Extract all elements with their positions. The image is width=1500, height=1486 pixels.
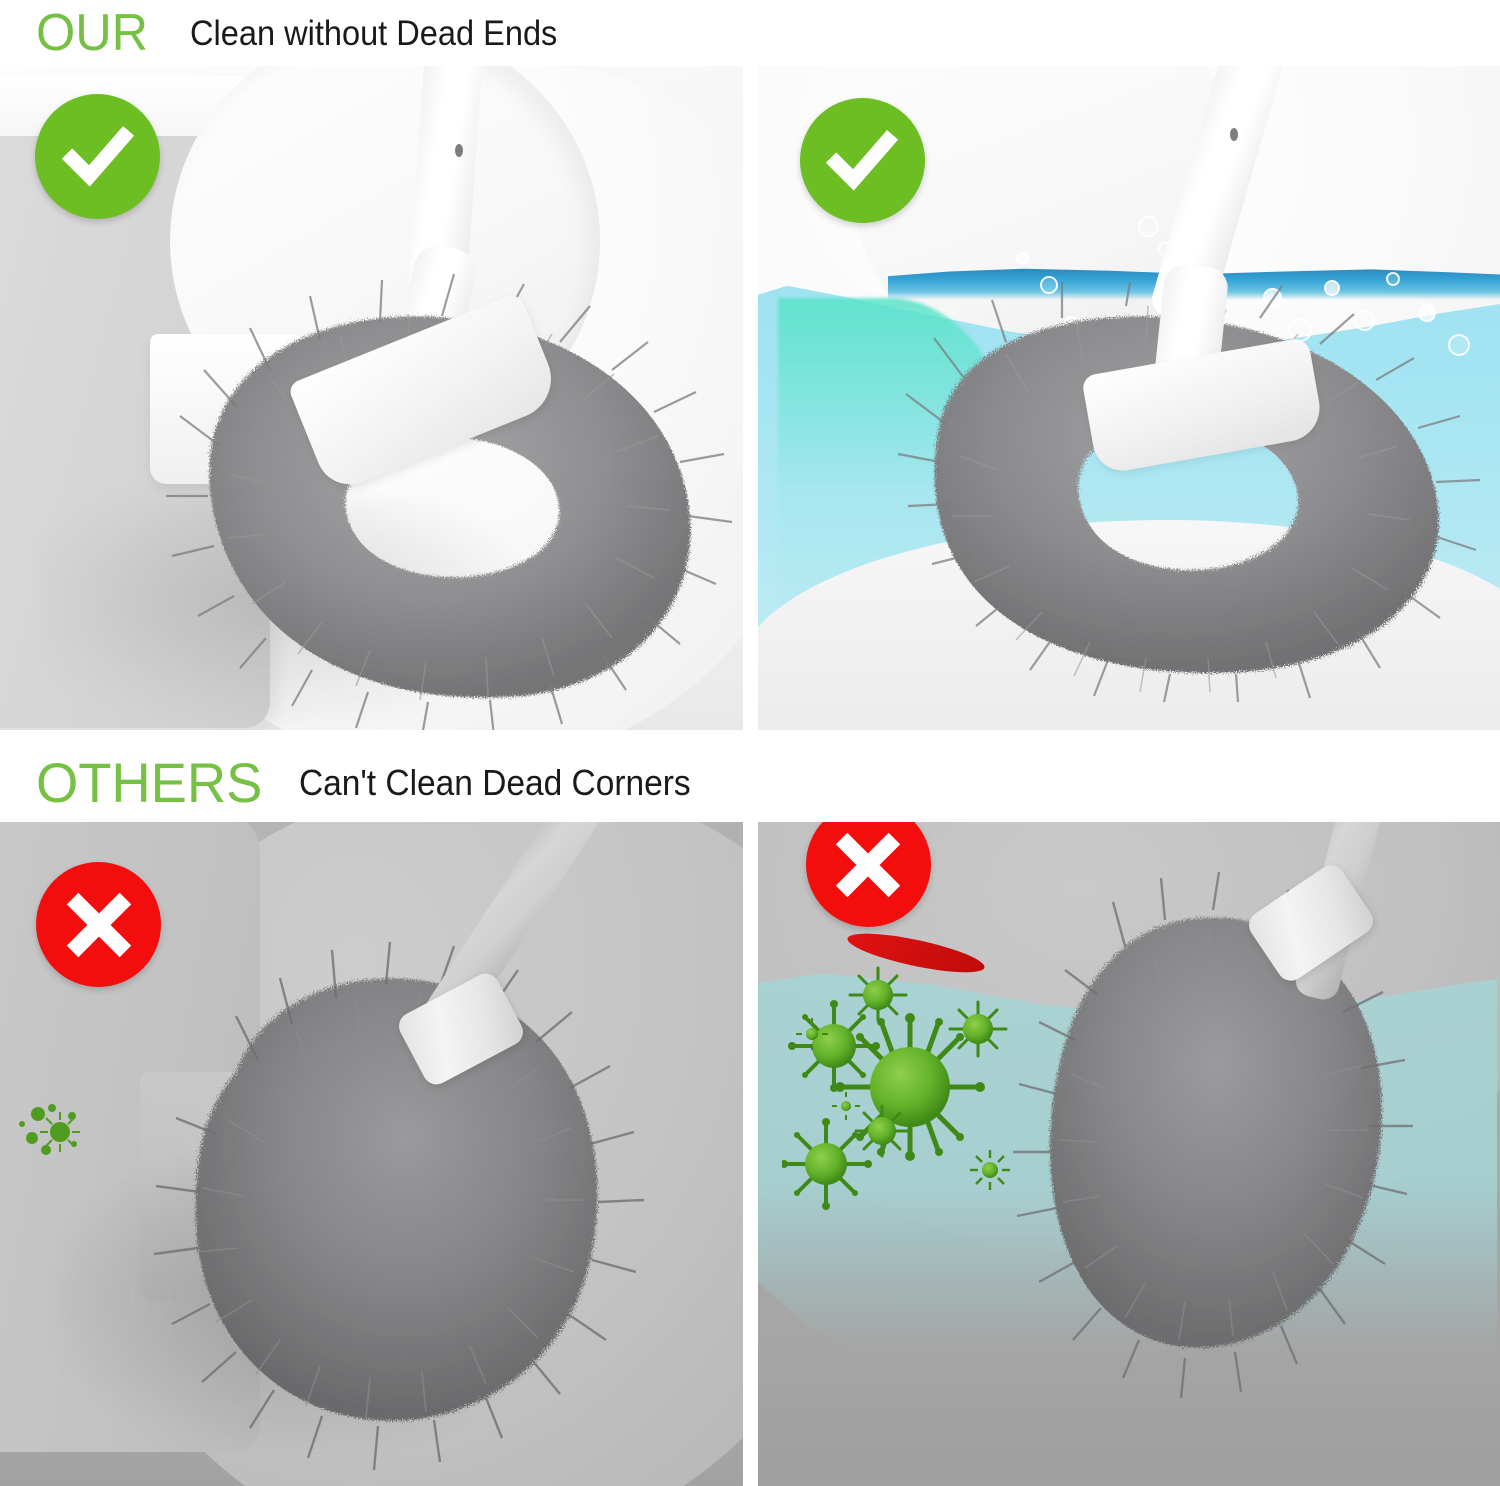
brush-bristles	[1013, 872, 1433, 1402]
panel-our-dry	[0, 66, 743, 730]
water-bubble	[1016, 252, 1029, 265]
section-badge-others: OTHERS	[36, 755, 262, 811]
panel-our-water	[758, 66, 1500, 730]
cross-circle-icon	[36, 862, 161, 987]
handle-vent-hole	[455, 144, 463, 157]
section-badge-our: OUR	[36, 7, 148, 59]
handle-vent-hole	[1230, 128, 1238, 141]
germ-cluster	[782, 962, 1052, 1222]
section-header-our: OUR Clean without Dead Ends	[0, 0, 1500, 66]
comparison-infographic: OUR Clean without Dead Ends	[0, 0, 1500, 1486]
water-bubble	[1138, 216, 1159, 237]
check-circle-icon	[35, 94, 160, 219]
check-circle-icon	[800, 98, 925, 223]
panel-others-water	[758, 822, 1500, 1486]
panel-row-others	[0, 822, 1500, 1486]
panel-row-our	[0, 66, 1500, 730]
panel-others-dry	[0, 822, 743, 1486]
germ-cluster	[10, 1092, 100, 1172]
section-subtitle-others: Can't Clean Dead Corners	[299, 765, 691, 801]
section-subtitle-our: Clean without Dead Ends	[190, 16, 557, 51]
section-header-others: OTHERS Can't Clean Dead Corners	[0, 730, 1500, 822]
